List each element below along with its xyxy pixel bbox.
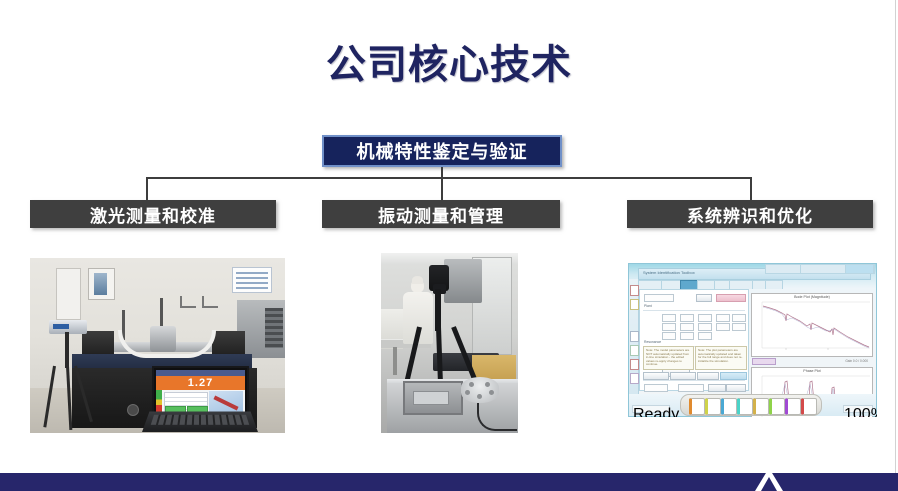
wall-chart-icon (232, 267, 272, 293)
wall-hook-1-icon (180, 296, 196, 308)
lab-door-icon (56, 268, 81, 320)
connector-horizontal-bus (146, 177, 752, 179)
tripod-center-column (435, 289, 441, 331)
system-identification-software-screenshot: System Identification Toolbox (628, 263, 877, 417)
linear-stage-right (212, 331, 245, 354)
software-icon-sidebar[interactable] (629, 279, 639, 395)
panel-group-label-2: Resonance (644, 340, 661, 344)
bode-magnitude-caption: Gain 0.0 / 0.000 (845, 359, 868, 363)
circular-test-mass (461, 377, 499, 403)
software-note-1-text: Note: The model parameters are NOT autom… (646, 349, 691, 367)
linear-stage-left (82, 331, 114, 354)
software-note-1: Note: The model parameters are NOT autom… (643, 346, 694, 370)
screen-measurement-readout: 1.27 (156, 376, 245, 390)
software-note-2: Note: The plot parameters are automatica… (695, 346, 747, 370)
connector-branch1-vertical (146, 177, 148, 200)
branch-label-2: 振动测量和管理 (378, 202, 504, 227)
diagram-branch-vibration-measurement[interactable]: 振动测量和管理 (322, 200, 560, 228)
software-toolbar-right (765, 264, 875, 274)
bode-magnitude-curve (752, 294, 872, 356)
software-tab-bar[interactable] (638, 280, 871, 288)
software-status-left: Ready (632, 405, 670, 413)
software-icon-dock[interactable] (680, 394, 822, 416)
diagram-branch-laser-measurement[interactable]: 激光测量和校准 (30, 200, 276, 228)
technician-head (411, 279, 424, 293)
tripod-column (65, 332, 69, 368)
laser-vibrometer-camera (429, 265, 449, 291)
software-window-title: System Identification Toolbox (643, 270, 695, 275)
screen-status-strip (156, 390, 162, 414)
page-title: 公司核心技术 (0, 32, 898, 90)
bode-magnitude-plot: Bode Plot (Magnitude) Gain 0.0 / 0.000 (751, 293, 873, 357)
vibration-measurement-cleanroom-photo (381, 253, 518, 433)
laser-measurement-lab-photo: 1.27 (30, 258, 285, 433)
cable-hose (118, 330, 216, 358)
diagram-root-node[interactable]: 机械特性鉴定与验证 (322, 135, 562, 167)
diagram-branch-system-identification[interactable]: 系统辨识和优化 (627, 200, 873, 228)
connector-branch3-vertical (750, 177, 752, 200)
lab-bench-leg (393, 347, 397, 375)
vibration-sensor-head (444, 259, 482, 303)
software-note-2-text: Note: The plot parameters are automatica… (698, 349, 744, 363)
bode-magnitude-legend-tag (752, 358, 776, 365)
diagram-root-label: 机械特性鉴定与验证 (357, 138, 528, 164)
software-parameter-panel[interactable]: Plant Resonance (639, 289, 749, 391)
panel-group-label-1: Plant (644, 304, 652, 308)
software-status-right: 100% (843, 405, 873, 413)
wall-hook-2-icon (202, 296, 218, 308)
slide-canvas: 公司核心技术 机械特性鉴定与验证 激光测量和校准 振动测量和管理 系统辨识和优化 (0, 0, 898, 491)
wall-poster-icon (88, 268, 115, 300)
branch-label-3: 系统辨识和优化 (687, 202, 813, 227)
sensor-cable (477, 403, 517, 431)
company-triangle-logo (749, 466, 789, 491)
connector-root-vertical (441, 167, 443, 200)
test-fixture (403, 381, 463, 415)
laptop-keyboard (142, 411, 258, 431)
branch-label-1: 激光测量和校准 (90, 202, 216, 227)
